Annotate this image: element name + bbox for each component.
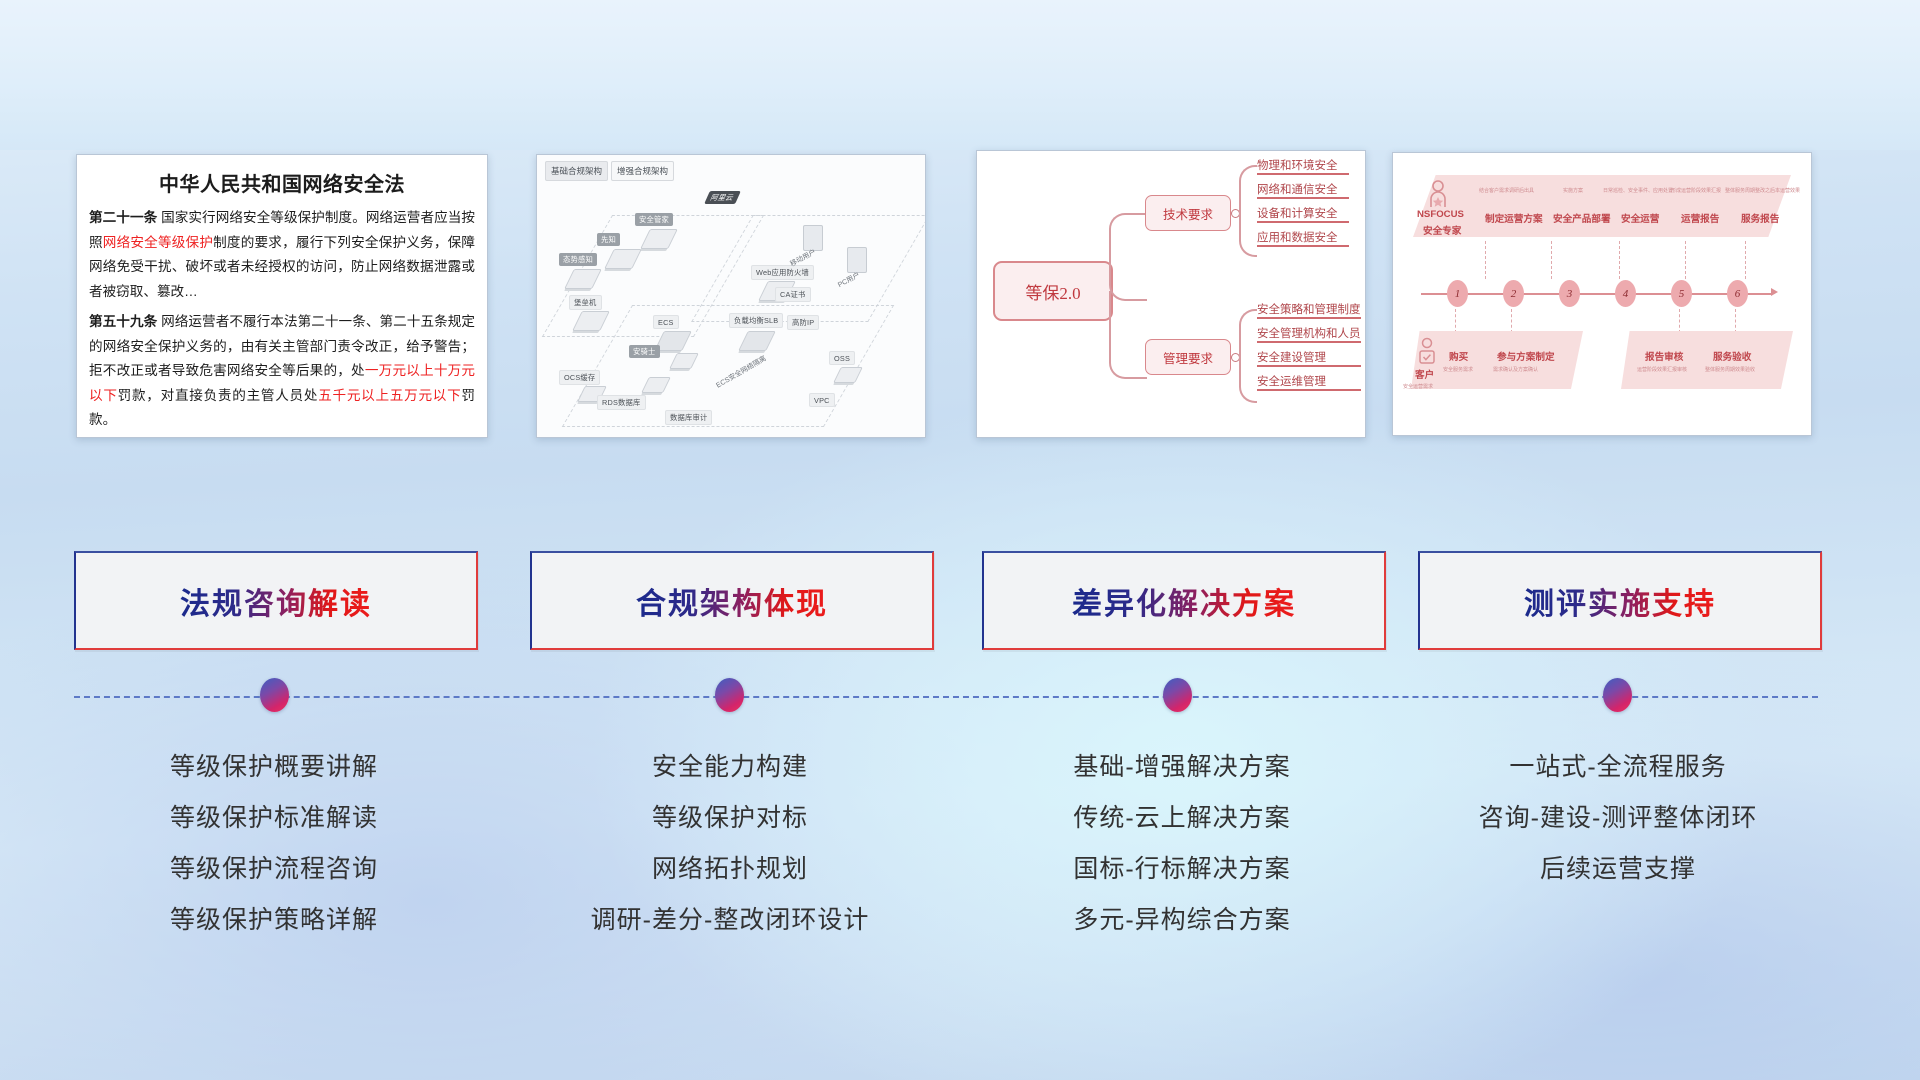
mind-leaf-ops-mgmt: 安全运维管理	[1257, 373, 1361, 391]
vendor-step-title-2: 安全产品部署	[1553, 211, 1611, 225]
list-item: 基础-增强解决方案	[982, 742, 1382, 793]
tick-b1	[1455, 309, 1457, 333]
mind-leaf-text-1: 网络和通信安全	[1257, 184, 1338, 196]
node-oss: OSS	[829, 351, 855, 365]
customer-step-sub-4: 整体服务周期效果验收	[1705, 366, 1755, 373]
column-list-4: 一站式-全流程服务 咨询-建设-测评整体闭环 后续运营支撑	[1418, 742, 1818, 895]
mind-leaf-text-5: 安全管理机构和人员	[1257, 328, 1361, 340]
service-timeline-card: NSFOCUS 安全专家 结合客户需求调研后出具 制定运营方案 实施方案 安全产…	[1392, 152, 1812, 436]
tick-b6	[1735, 309, 1737, 333]
headline-box-differentiated-solution[interactable]: 差异化解决方案	[982, 551, 1386, 650]
node-database-audit: 数据库审计	[665, 410, 712, 425]
list-item: 传统-云上解决方案	[982, 793, 1382, 844]
node-rds-database: RDS数据库	[597, 395, 646, 410]
mind-leaf-text-2: 设备和计算安全	[1257, 208, 1338, 220]
tick-3	[1619, 241, 1621, 279]
timeline-step-2: 2	[1503, 280, 1524, 307]
node-slb: 负载均衡SLB	[729, 313, 783, 328]
list-item: 等级保护标准解读	[74, 793, 474, 844]
list-item: 等级保护流程咨询	[74, 844, 474, 895]
mind-leaf-org-personnel: 安全管理机构和人员	[1257, 325, 1361, 343]
architecture-diagram-card: 基础合规架构 增强合规架构 阿里云 安全管家 先知 态势感知 堡垒机 ECS 安…	[536, 154, 926, 438]
timeline-step-5: 5	[1671, 280, 1692, 307]
list-item: 一站式-全流程服务	[1418, 742, 1818, 793]
architecture-tabs[interactable]: 基础合规架构 增强合规架构	[545, 161, 674, 181]
vendor-band	[1413, 175, 1791, 237]
timeline-node-4[interactable]	[1603, 678, 1632, 712]
mind-leaf-device-compute: 设备和计算安全	[1257, 205, 1349, 223]
vendor-step-sub-5: 整体服务周期整改之后本运营效果	[1725, 187, 1800, 194]
timeline-step-4: 4	[1615, 280, 1636, 307]
vendor-step-title-4: 运营报告	[1681, 211, 1719, 225]
expert-person-icon	[1427, 179, 1449, 209]
node-vpc: VPC	[809, 393, 835, 407]
list-item: 安全能力构建	[530, 742, 930, 793]
timeline-step-3: 3	[1559, 280, 1580, 307]
headline-box-regulation-consulting[interactable]: 法规咨询解读	[74, 551, 478, 650]
mind-fan-technical	[1239, 165, 1257, 257]
node-anti-ddos-ip: 高防IP	[787, 315, 819, 330]
law-seg-1-1: 网络安全等级保护	[103, 235, 213, 250]
vendor-step-sub-2: 实施方案	[1563, 187, 1583, 194]
mind-leaf-app-data: 应用和数据安全	[1257, 229, 1349, 247]
node-bastion-host: 堡垒机	[569, 295, 602, 310]
list-item: 等级保护对标	[530, 793, 930, 844]
customer-step-title-3: 报告审核	[1645, 349, 1683, 363]
list-item: 后续运营支撑	[1418, 844, 1818, 895]
mind-connector-tech	[1109, 213, 1147, 301]
timeline-canvas: NSFOCUS 安全专家 结合客户需求调研后出具 制定运营方案 实施方案 安全产…	[1393, 153, 1811, 435]
tab-enhanced-architecture[interactable]: 增强合规架构	[611, 161, 674, 181]
node-situation-awareness: 态势感知	[559, 253, 597, 266]
customer-step-sub-3: 运营阶段效果汇报审核	[1637, 366, 1687, 373]
mind-leaf-text-7: 安全运维管理	[1257, 376, 1326, 388]
mind-leaf-text-3: 应用和数据安全	[1257, 232, 1338, 244]
tab-basic-architecture[interactable]: 基础合规架构	[545, 161, 608, 181]
column-list-3: 基础-增强解决方案 传统-云上解决方案 国标-行标解决方案 多元-异构综合方案	[982, 742, 1382, 946]
vendor-role: 安全专家	[1423, 223, 1461, 237]
customer-step-sub-1: 安全服务需求	[1443, 366, 1473, 373]
headline-box-compliance-architecture[interactable]: 合规架构体现	[530, 551, 934, 650]
mind-map-canvas: 等保2.0 技术要求 物理和环境安全 网络和通信安全 设备和计算安全 应用和数据…	[977, 151, 1365, 437]
headline-label-4: 测评实施支持	[1524, 579, 1716, 623]
node-security-butler: 安全管家	[635, 213, 673, 226]
customer-step-title-4: 服务验收	[1713, 349, 1751, 363]
headline-label-2: 合规架构体现	[636, 579, 828, 623]
timeline-axis	[1421, 293, 1773, 295]
tick-1	[1485, 241, 1487, 279]
vendor-step-title-1: 制定运营方案	[1485, 211, 1543, 225]
timeline-node-3[interactable]	[1163, 678, 1192, 712]
architecture-canvas: 基础合规架构 增强合规架构 阿里云 安全管家 先知 态势感知 堡垒机 ECS 安…	[537, 155, 925, 437]
mind-leaf-policy-system: 安全策略和管理制度	[1257, 301, 1361, 319]
node-ecs: ECS	[653, 315, 679, 329]
list-item: 咨询-建设-测评整体闭环	[1418, 793, 1818, 844]
timeline-step-6: 6	[1727, 280, 1748, 307]
mind-connector-mgmt	[1109, 291, 1147, 379]
vendor-step-title-5: 服务报告	[1741, 211, 1779, 225]
timeline-step-1: 1	[1447, 280, 1468, 307]
list-item: 国标-行标解决方案	[982, 844, 1382, 895]
tick-b2	[1511, 309, 1513, 333]
node-aliyun: 阿里云	[704, 191, 740, 204]
tick-4	[1685, 241, 1687, 279]
law-article-label-2: 第五十九条	[89, 314, 157, 329]
timeline-node-1[interactable]	[260, 678, 289, 712]
law-card-body: 第二十一条 国家实行网络安全等级保护制度。网络运营者应当按照网络安全等级保护制度…	[77, 206, 487, 433]
customer-step-title-2: 参与方案制定	[1497, 349, 1555, 363]
headline-label-3: 差异化解决方案	[1072, 579, 1296, 623]
customer-step-title-1: 购买	[1449, 349, 1468, 363]
list-item: 等级保护概要讲解	[74, 742, 474, 793]
customer-step-sub-2: 需求确认及方案确认	[1493, 366, 1538, 373]
customer-role-sub: 安全运营需求	[1403, 383, 1433, 390]
mind-leaf-text-6: 安全建设管理	[1257, 352, 1326, 364]
list-item: 调研-差分-整改闭环设计	[530, 895, 930, 946]
law-paragraph-1: 第二十一条 国家实行网络安全等级保护制度。网络运营者应当按照网络安全等级保护制度…	[89, 206, 475, 304]
mind-leaf-construction-mgmt: 安全建设管理	[1257, 349, 1361, 367]
tick-b5	[1679, 309, 1681, 333]
mind-leaf-text-0: 物理和环境安全	[1257, 160, 1338, 172]
node-xianzhi: 先知	[597, 233, 620, 246]
column-list-2: 安全能力构建 等级保护对标 网络拓扑规划 调研-差分-整改闭环设计	[530, 742, 930, 946]
node-ca-certificate: CA证书	[775, 287, 811, 302]
law-text-card: 中华人民共和国网络安全法 第二十一条 国家实行网络安全等级保护制度。网络运营者应…	[76, 154, 488, 438]
list-item: 多元-异构综合方案	[982, 895, 1382, 946]
mind-fan-management	[1239, 309, 1257, 403]
tick-5	[1745, 241, 1747, 279]
tick-2	[1551, 241, 1553, 279]
mind-branch-management: 管理要求	[1145, 339, 1231, 375]
mind-branch-technical: 技术要求	[1145, 195, 1231, 231]
customer-role: 客户	[1415, 367, 1434, 381]
connector-dashed-line	[74, 696, 1818, 698]
column-list-1: 等级保护概要讲解 等级保护标准解读 等级保护流程咨询 等级保护策略详解	[74, 742, 474, 946]
headline-label-1: 法规咨询解读	[180, 579, 372, 623]
law-seg-2-3: 五千元以上五万元以下	[318, 388, 461, 403]
vendor-step-title-3: 安全运营	[1621, 211, 1659, 225]
node-web-waf: Web应用防火墙	[751, 265, 814, 280]
headline-box-assessment-support[interactable]: 测评实施支持	[1418, 551, 1822, 650]
law-card-title: 中华人民共和国网络安全法	[77, 168, 487, 197]
vendor-name: NSFOCUS	[1417, 209, 1464, 220]
law-paragraph-2: 第五十九条 网络运营者不履行本法第二十一条、第二十五条规定的网络安全保护义务的，…	[89, 310, 475, 433]
law-article-label-1: 第二十一条	[89, 210, 157, 225]
vendor-step-sub-4: 形成运营阶段效果汇报	[1671, 187, 1721, 194]
node-ocs-cache: OCS缓存	[559, 370, 600, 385]
vendor-step-sub-3: 日常巡检、安全事件、应用处置	[1603, 187, 1673, 194]
list-item: 网络拓扑规划	[530, 844, 930, 895]
background-sky	[0, 0, 1920, 150]
mind-map-card: 等保2.0 技术要求 物理和环境安全 网络和通信安全 设备和计算安全 应用和数据…	[976, 150, 1366, 438]
list-item: 等级保护策略详解	[74, 895, 474, 946]
vendor-step-sub-1: 结合客户需求调研后出具	[1479, 187, 1534, 194]
timeline-arrow-icon	[1771, 288, 1778, 296]
mind-leaf-network-comm: 网络和通信安全	[1257, 181, 1349, 199]
timeline-node-2[interactable]	[715, 678, 744, 712]
mind-root-node: 等保2.0	[993, 261, 1113, 321]
mind-leaf-text-4: 安全策略和管理制度	[1257, 304, 1361, 316]
law-seg-2-2: 罚款，对直接负责的主管人员处	[118, 388, 319, 403]
node-anqishi: 安骑士	[629, 345, 660, 358]
customer-person-icon	[1417, 337, 1437, 365]
mind-leaf-physical-env: 物理和环境安全	[1257, 157, 1349, 175]
